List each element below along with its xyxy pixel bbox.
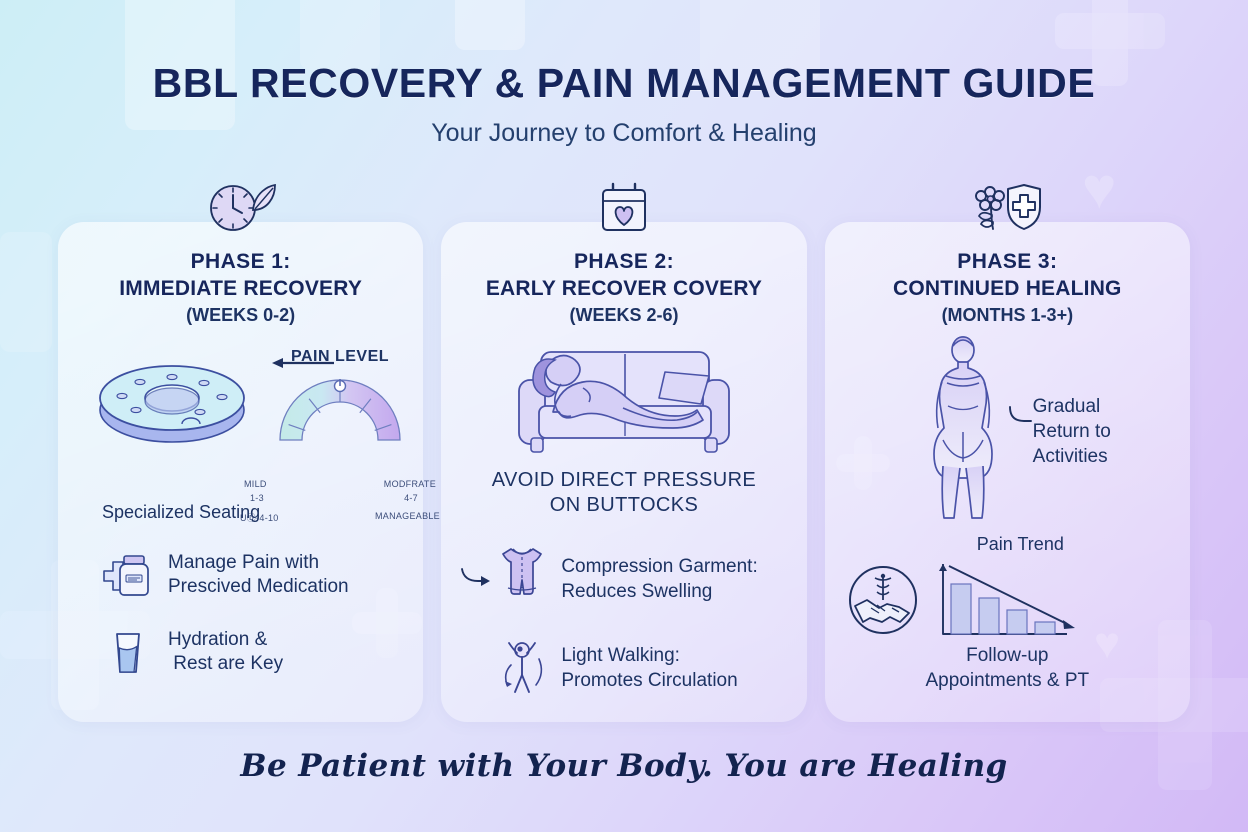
warning-line-2: ON BUTTOCKS [441,493,806,518]
pain-trend-chart [935,562,1083,649]
bullet-line-2: Prescived Medication [168,576,349,597]
phase-1-bullets: Manage Pain with Prescived Medication Hy… [58,551,423,676]
bullet-line-1: Compression Garment: [561,556,757,577]
bullet-line-2: Rest are Key [173,653,283,674]
phase-card-1[interactable]: PHASE 1: IMMEDIATE RECOVERY (WEEKS 0-2) [58,222,423,722]
gauge-label-moderate: MODFRATE [384,479,436,489]
phase-3-subtitle: CONTINUED HEALING [825,277,1190,301]
gauge-value-mild: 1-3 [250,493,264,503]
phase-2-title: PHASE 2: [441,250,806,274]
medical-handshake-seal-icon [847,564,919,641]
pain-trend-title: Pain Trend [825,534,1190,555]
footer-tagline: Be Patient with Your Body. You are Heali… [0,748,1248,784]
bullet-line-1: Hydration & [168,629,267,650]
phase-3-timeframe: (MONTHS 1-3+) [825,305,1190,326]
pain-level-gauge: PAIN LEVEL [240,348,440,449]
caption-line-2: Return to [1033,421,1111,442]
phase-1-subtitle: IMMEDIATE RECOVERY [58,277,423,301]
phase-2-bullets: Compression Garment: Reduces Swelling [441,544,806,700]
gauge-label-severe: UⒹ-4-10 [240,511,279,524]
caption-line-3: Activities [1033,446,1108,467]
follow-up-caption: Follow-up Appointments & PT [825,644,1190,693]
phase-3-trend-section: Pain Trend [825,536,1190,686]
phase-card-2[interactable]: PHASE 2: EARLY RECOVER COVERY (WEEKS 2-6… [441,222,806,722]
gauge-arc [240,370,440,444]
walking-person-icon [495,637,549,700]
page-header: BBL RECOVERY & PAIN MANAGEMENT GUIDE You… [0,60,1248,148]
foot-line-2: Appointments & PT [925,670,1089,691]
foot-line-1: Follow-up [966,645,1048,666]
gauge-title: PAIN LEVEL [240,348,440,366]
water-glass-icon [102,628,154,676]
phase-card-3[interactable]: PHASE 3: CONTINUED HEALING (MONTHS 1-3+) [825,222,1190,722]
female-body-rear-view-icon [917,336,1009,531]
donut-cushion-icon [96,348,248,463]
bullet-line-1: Light Walking: [561,645,680,666]
phase-1-timeframe: (WEEKS 0-2) [58,305,423,326]
gradual-return-caption: Gradual Return to Activities [1033,394,1111,469]
calendar-heart-icon [441,180,806,236]
gauge-value-moderate: 4-7 [404,493,418,503]
phase-2-warning: AVOID DIRECT PRESSURE ON BUTTOCKS [441,468,806,518]
list-item-label: Manage Pain with Prescived Medication [168,551,349,600]
phase-1-visual: PAIN LEVEL [58,340,423,500]
clock-leaf-icon [58,180,423,236]
hook-connector-icon [1007,404,1033,431]
list-item[interactable]: Hydration & Rest are Key [58,628,423,677]
list-item[interactable]: Manage Pain with Prescived Medication [58,551,423,600]
medicine-bottle-icon [102,551,154,599]
page-subtitle: Your Journey to Comfort & Healing [0,119,1248,148]
list-item[interactable]: Compression Garment: Reduces Swelling [441,544,806,615]
compression-garment-icon [495,544,549,615]
list-item[interactable]: Light Walking: Promotes Circulation [441,637,806,700]
list-item-label: Compression Garment: Reduces Swelling [561,555,757,604]
phase-2-timeframe: (WEEKS 2-6) [441,305,806,326]
phase-1-title: PHASE 1: [58,250,423,274]
phase-1-heading: PHASE 1: IMMEDIATE RECOVERY (WEEKS 0-2) [58,222,423,326]
gauge-label-mild: MILD [244,479,267,489]
bullet-line-2: Reduces Swelling [561,581,712,602]
list-item-label: Light Walking: Promotes Circulation [561,644,737,693]
phase-2-heading: PHASE 2: EARLY RECOVER COVERY (WEEKS 2-6… [441,222,806,326]
phase-cards-container: PHASE 1: IMMEDIATE RECOVERY (WEEKS 0-2) [58,222,1190,722]
curved-arrow-icon [459,566,493,595]
watermark-square [0,232,52,352]
phase-3-title: PHASE 3: [825,250,1190,274]
phase-3-visual: Gradual Return to Activities [825,336,1190,536]
page-title: BBL RECOVERY & PAIN MANAGEMENT GUIDE [0,60,1248,107]
warning-line-1: AVOID DIRECT PRESSURE [441,468,806,493]
phase-2-subtitle: EARLY RECOVER COVERY [441,277,806,301]
gauge-label-manageable: MANAGEABLE [375,511,440,521]
caption-line-1: Gradual [1033,396,1101,417]
watermark-square [455,0,525,50]
phase-3-heading: PHASE 3: CONTINUED HEALING (MONTHS 1-3+) [825,222,1190,326]
bullet-line-2: Promotes Circulation [561,670,737,691]
bullet-line-1: Manage Pain with [168,552,319,573]
list-item-label: Hydration & Rest are Key [168,628,283,677]
person-reclining-on-couch-icon [441,332,806,462]
flower-shield-icon [825,180,1190,236]
